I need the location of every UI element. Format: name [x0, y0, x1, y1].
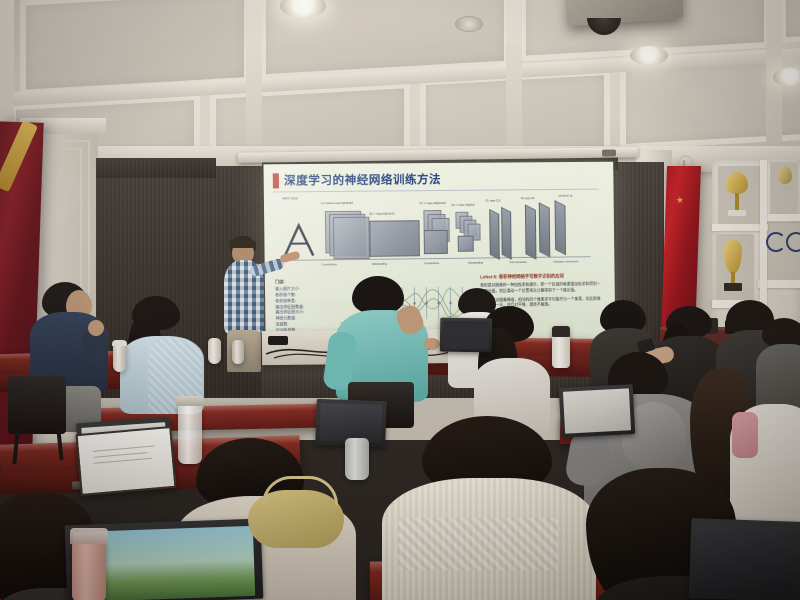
cnn-layer-label: OUTPUT 10 — [558, 195, 572, 198]
bottle-cap — [70, 528, 108, 544]
slide-title: 深度学习的神经网络训练方法 — [284, 171, 441, 188]
water-bottle[interactable] — [178, 402, 202, 464]
cnn-layer-label: C3: f. maps 16@10x10 — [419, 202, 446, 205]
paper-cup[interactable] — [208, 338, 221, 364]
laptop[interactable] — [440, 318, 493, 353]
laptop[interactable] — [689, 518, 800, 600]
notepad-folder[interactable] — [75, 426, 176, 496]
cnn-input-label: INPUT 32x32 — [282, 197, 298, 200]
ceiling-beam — [506, 0, 522, 165]
cnn-stage-label: Subsampling — [372, 263, 387, 266]
cnn-stage-label: Convolutions — [321, 263, 336, 266]
slide-right-text-block: LeNet-5: 卷积神经网络手写数字识别的应用 卷积是对图像的一种加权求和操作… — [480, 273, 601, 313]
medal-icon — [766, 232, 786, 252]
ceiling-downlight — [630, 46, 668, 65]
cnn-layer-label: S2: f. maps 6@14x14 — [369, 212, 394, 215]
cnn-layer-label: F6: layer 84 — [521, 197, 535, 200]
cnn-layer-label: C1: feature maps 6@28x28 — [321, 202, 353, 205]
flag-star-icon: ★ — [675, 195, 684, 207]
chair[interactable] — [8, 376, 66, 434]
ceiling-coffer — [780, 0, 800, 43]
paper-cup[interactable] — [232, 340, 244, 364]
cnn-layer-label: C5: layer 120 — [485, 199, 500, 202]
bag-handle — [262, 476, 338, 505]
ceiling-downlight — [773, 68, 800, 86]
ceiling-vent — [455, 16, 483, 32]
paper-cup[interactable] — [113, 342, 126, 372]
laptop[interactable] — [559, 384, 636, 438]
cnn-layer-label: S4: f. maps 16@5x5 — [451, 204, 475, 207]
cnn-stage-label: Full connection — [510, 261, 527, 264]
cnn-stage-label: Convolutions — [424, 262, 439, 265]
cnn-stage-label: Subsampling — [468, 261, 483, 264]
slide-accent-bar — [273, 173, 279, 188]
pink-strap — [732, 412, 758, 458]
medal-icon — [786, 232, 800, 252]
console-device[interactable] — [268, 336, 288, 345]
thermos-cap — [552, 326, 570, 337]
slide-title-rule — [273, 189, 599, 193]
cnn-architecture-diagram: INPUT 32x32 C1: feature maps 6@28x28 S2:… — [276, 195, 597, 277]
drinking-glass[interactable] — [345, 438, 369, 480]
screen-roller-knob[interactable] — [602, 150, 616, 157]
right-block-heading: LeNet-5: 卷积神经网络手写数字识别的应用 — [480, 273, 601, 281]
bottle-cap — [176, 396, 204, 406]
right-block-paragraph: 卷积是对图像的一种加权求和操作，把一个区域的像素值加权求和得到一个输出值，然后滑… — [480, 282, 601, 295]
lecture-room-photo: 深度学习的神经网络训练方法 INPUT 32x32 C1: feature ma… — [0, 0, 800, 600]
pink-water-bottle[interactable] — [72, 540, 106, 600]
acoustic-panel-left-top — [96, 158, 216, 178]
cnn-stage-label: Gaussian connections — [553, 260, 578, 263]
